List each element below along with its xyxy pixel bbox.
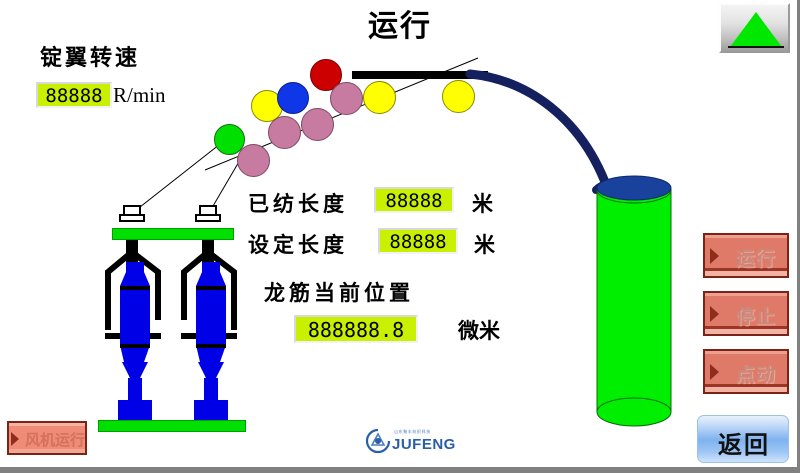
thread-left — [126, 137, 229, 218]
fan-run-button[interactable]: 风机运行 — [7, 421, 87, 455]
ball-yellow-2 — [363, 81, 396, 114]
stop-button-label: 停止 — [723, 302, 789, 329]
beam-position-label: 龙筋当前位置 — [264, 277, 414, 307]
fan-run-button-label: 风机运行 — [23, 429, 87, 450]
triangle-baseline — [728, 46, 784, 48]
jog-button[interactable]: 点动 — [703, 349, 789, 394]
bobbin-cylinder — [597, 176, 671, 426]
hmi-screen: 运行 锭翼转速 88888 R/min 已纺长度 88888 米 设定长度 88… — [0, 0, 800, 473]
ball-pink-3 — [301, 108, 334, 141]
top-guide-bar — [352, 71, 488, 79]
back-button[interactable]: 返回 — [697, 415, 789, 463]
scroll-up-button[interactable] — [719, 3, 790, 53]
spindle-speed-value[interactable]: 88888 — [36, 82, 112, 108]
spindle-speed-unit: R/min — [113, 83, 166, 108]
jufeng-mark-icon — [365, 428, 391, 454]
set-length-label: 设定长度 — [248, 229, 348, 259]
back-button-label: 返回 — [698, 425, 790, 460]
jog-arrow-icon — [710, 364, 719, 380]
fan-arrow-icon — [11, 432, 19, 446]
stop-arrow-icon — [710, 306, 719, 322]
spun-length-label: 已纺长度 — [248, 188, 348, 218]
beam-position-unit: 微米 — [458, 315, 500, 345]
lower-rail — [98, 420, 246, 432]
ball-blue — [277, 82, 309, 114]
stop-button[interactable]: 停止 — [703, 291, 789, 336]
ball-pink-4 — [330, 82, 363, 115]
spindle-speed-label: 锭翼转速 — [40, 40, 140, 72]
ball-pink-2 — [268, 116, 301, 149]
run-arrow-icon — [710, 248, 719, 264]
logo-text: JUFENG — [392, 436, 456, 453]
set-length-value[interactable]: 88888 — [378, 228, 458, 254]
set-length-unit: 米 — [474, 229, 495, 259]
jog-button-label: 点动 — [723, 360, 789, 387]
logo-cn-text: 山东聚丰纺织科技 — [394, 429, 431, 435]
spun-length-unit: 米 — [472, 188, 493, 218]
ball-yellow-3 — [442, 80, 475, 113]
yarn-end — [596, 183, 609, 190]
spun-length-value[interactable]: 88888 — [374, 187, 454, 213]
company-logo: 山东聚丰纺织科技 JUFENG — [365, 428, 455, 454]
green-up-triangle-icon — [730, 12, 782, 47]
yarn-curve — [470, 74, 605, 182]
ball-pink-1 — [237, 144, 270, 177]
lifting-beam — [112, 228, 234, 240]
page-title: 运行 — [330, 1, 470, 45]
run-button-label: 运行 — [723, 244, 789, 271]
beam-position-value[interactable]: 888888.8 — [294, 315, 418, 343]
run-button[interactable]: 运行 — [703, 233, 789, 278]
